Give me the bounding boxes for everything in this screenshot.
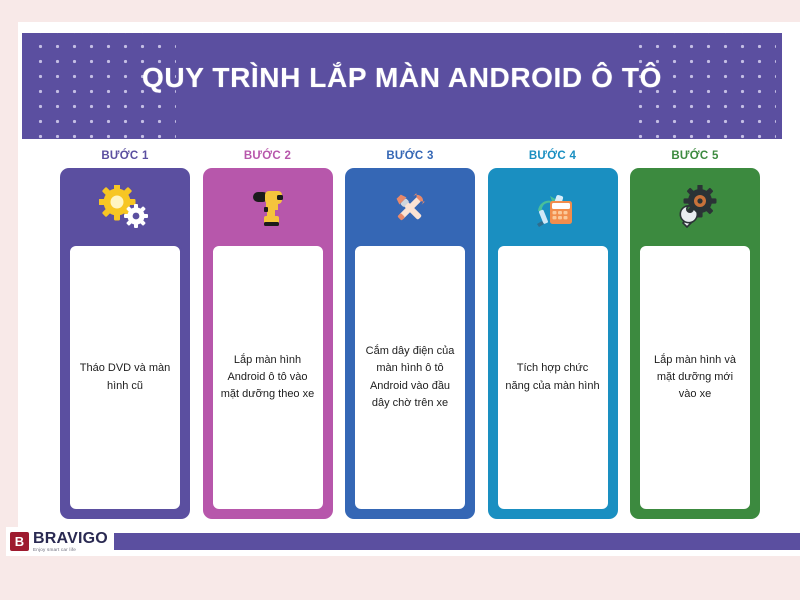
- step-1-label: BƯỚC 1: [101, 150, 148, 162]
- step-4-card[interactable]: Tích hợp chức năng của màn hình: [488, 168, 618, 519]
- step-2-text: Lắp màn hình Android ô tô vào mặt dưỡng …: [220, 352, 316, 403]
- step-5-card[interactable]: Lắp màn hình và mặt dưỡng mới vào xe: [630, 168, 760, 519]
- step-1-panel: Tháo DVD và màn hình cũ: [68, 244, 182, 511]
- step-2-panel: Lắp màn hình Android ô tô vào mặt dưỡng …: [211, 244, 325, 511]
- step-5-panel: Lắp màn hình và mặt dưỡng mới vào xe: [638, 244, 752, 511]
- wrench-gear-icon: [630, 179, 760, 237]
- step-4: BƯỚC 4: [488, 150, 618, 522]
- power-drill-icon: [203, 179, 333, 237]
- slide-canvas: QUY TRÌNH LẮP MÀN ANDROID Ô TÔ BƯỚC 1: [18, 22, 800, 556]
- step-5: BƯỚC 5: [630, 150, 760, 522]
- steps-row: BƯỚC 1: [60, 150, 760, 522]
- step-5-text: Lắp màn hình và mặt dưỡng mới vào xe: [647, 352, 743, 403]
- step-4-text: Tích hợp chức năng của màn hình: [505, 360, 601, 394]
- step-2: BƯỚC 2 Lắp màn hình Android ô: [203, 150, 333, 522]
- step-4-label: BƯỚC 4: [529, 150, 576, 162]
- logo-wordmark: BRAVIGO: [33, 531, 108, 547]
- step-3-text: Cắm dây điện của màn hình ô tô Android v…: [362, 343, 458, 411]
- footer-bar: [114, 533, 800, 550]
- step-1: BƯỚC 1: [60, 150, 190, 522]
- step-2-card[interactable]: Lắp màn hình Android ô tô vào mặt dưỡng …: [203, 168, 333, 519]
- step-5-label: BƯỚC 5: [671, 150, 718, 162]
- logo-text: BRAVIGO Enjoy smart car life: [33, 531, 108, 553]
- step-3-label: BƯỚC 3: [386, 150, 433, 162]
- bravigo-logo[interactable]: B BRAVIGO Enjoy smart car life: [6, 527, 114, 556]
- calculator-tools-icon: [488, 179, 618, 237]
- step-3: BƯỚC 3: [345, 150, 475, 522]
- logo-mark-icon: B: [10, 532, 29, 551]
- gears-icon: [60, 179, 190, 237]
- step-4-panel: Tích hợp chức năng của màn hình: [496, 244, 610, 511]
- step-3-panel: Cắm dây điện của màn hình ô tô Android v…: [353, 244, 467, 511]
- wrench-screwdriver-icon: [345, 179, 475, 237]
- logo-tagline: Enjoy smart car life: [33, 548, 108, 553]
- title-banner: QUY TRÌNH LẮP MÀN ANDROID Ô TÔ: [22, 33, 782, 139]
- step-2-label: BƯỚC 2: [244, 150, 291, 162]
- step-3-card[interactable]: Cắm dây điện của màn hình ô tô Android v…: [345, 168, 475, 519]
- step-1-card[interactable]: Tháo DVD và màn hình cũ: [60, 168, 190, 519]
- page-title: QUY TRÌNH LẮP MÀN ANDROID Ô TÔ: [22, 62, 782, 94]
- step-1-text: Tháo DVD và màn hình cũ: [77, 360, 173, 394]
